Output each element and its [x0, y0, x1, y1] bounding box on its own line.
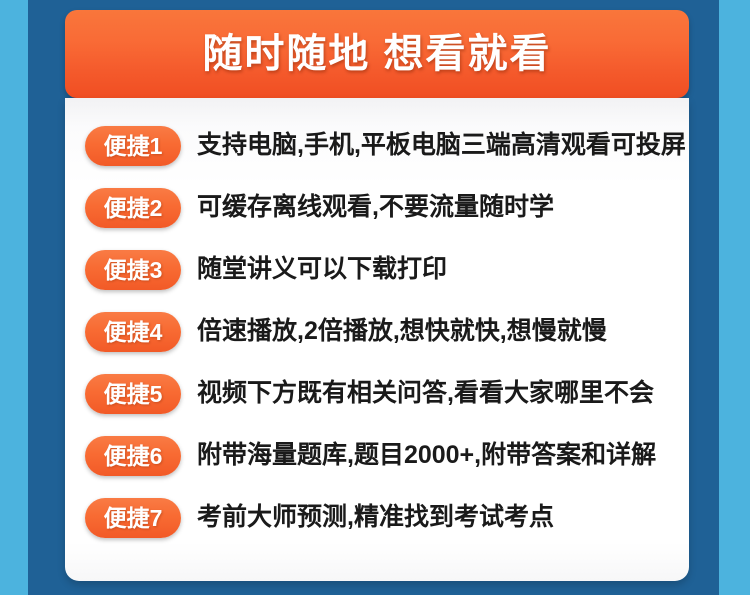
- feature-badge: 便捷3: [85, 250, 181, 290]
- feature-badge: 便捷2: [85, 188, 181, 228]
- list-item: 便捷5 视频下方既有相关问答,看看大家哪里不会: [65, 370, 689, 418]
- list-item: 便捷6 附带海量题库,题目2000+,附带答案和详解: [65, 432, 689, 480]
- feature-text: 考前大师预测,精准找到考试考点: [197, 504, 554, 532]
- feature-badge: 便捷6: [85, 436, 181, 476]
- feature-text: 随堂讲义可以下载打印: [197, 256, 447, 284]
- promotional-poster: 随时随地 想看就看 便捷1 支持电脑,手机,平板电脑三端高清观看可投屏 便捷2 …: [0, 0, 750, 595]
- feature-text: 附带海量题库,题目2000+,附带答案和详解: [197, 442, 656, 470]
- feature-card: 便捷1 支持电脑,手机,平板电脑三端高清观看可投屏 便捷2 可缓存离线观看,不要…: [65, 98, 689, 581]
- list-item: 便捷2 可缓存离线观看,不要流量随时学: [65, 184, 689, 232]
- list-item: 便捷3 随堂讲义可以下载打印: [65, 246, 689, 294]
- header-banner: 随时随地 想看就看: [65, 10, 689, 98]
- list-item: 便捷4 倍速播放,2倍播放,想快就快,想慢就慢: [65, 308, 689, 356]
- feature-badge: 便捷5: [85, 374, 181, 414]
- feature-badge: 便捷7: [85, 498, 181, 538]
- feature-text: 倍速播放,2倍播放,想快就快,想慢就慢: [197, 318, 607, 346]
- feature-list: 便捷1 支持电脑,手机,平板电脑三端高清观看可投屏 便捷2 可缓存离线观看,不要…: [65, 122, 689, 556]
- feature-text: 可缓存离线观看,不要流量随时学: [197, 194, 554, 222]
- list-item: 便捷7 考前大师预测,精准找到考试考点: [65, 494, 689, 542]
- feature-badge: 便捷1: [85, 126, 181, 166]
- banner-title: 随时随地 想看就看: [202, 34, 551, 74]
- list-item: 便捷1 支持电脑,手机,平板电脑三端高清观看可投屏: [65, 122, 689, 170]
- feature-badge: 便捷4: [85, 312, 181, 352]
- feature-text: 视频下方既有相关问答,看看大家哪里不会: [197, 380, 654, 408]
- feature-text: 支持电脑,手机,平板电脑三端高清观看可投屏: [197, 132, 686, 160]
